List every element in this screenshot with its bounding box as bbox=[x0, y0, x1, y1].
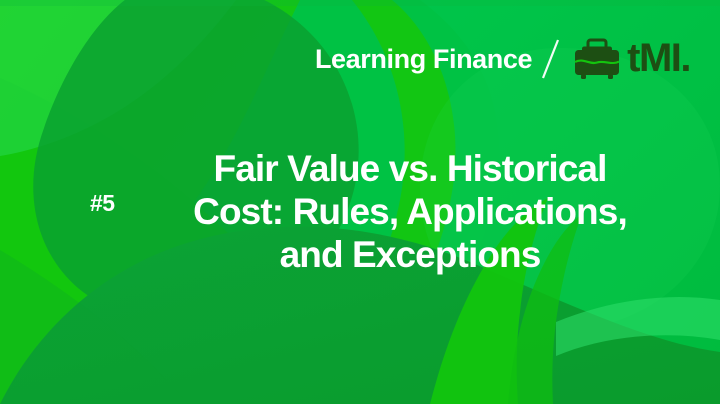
title-line-2: Cost: Rules, Applications, bbox=[150, 191, 670, 234]
episode-number-badge: #5 bbox=[90, 192, 115, 215]
title-line-3: and Exceptions bbox=[150, 234, 670, 277]
title-line-1: Fair Value vs. Historical bbox=[150, 148, 670, 191]
title-slide: Learning Finance tMI. bbox=[0, 0, 720, 404]
slide-header: Learning Finance tMI. bbox=[315, 36, 690, 82]
brand-wordmark: tMI. bbox=[627, 38, 690, 78]
separator-slash-icon bbox=[532, 36, 570, 82]
bg-shape-top-strip bbox=[0, 0, 720, 6]
briefcase-icon bbox=[570, 37, 624, 81]
brand-logo[interactable]: tMI. bbox=[570, 37, 690, 81]
slide-title: Fair Value vs. Historical Cost: Rules, A… bbox=[150, 148, 670, 277]
series-title: Learning Finance bbox=[315, 46, 532, 73]
